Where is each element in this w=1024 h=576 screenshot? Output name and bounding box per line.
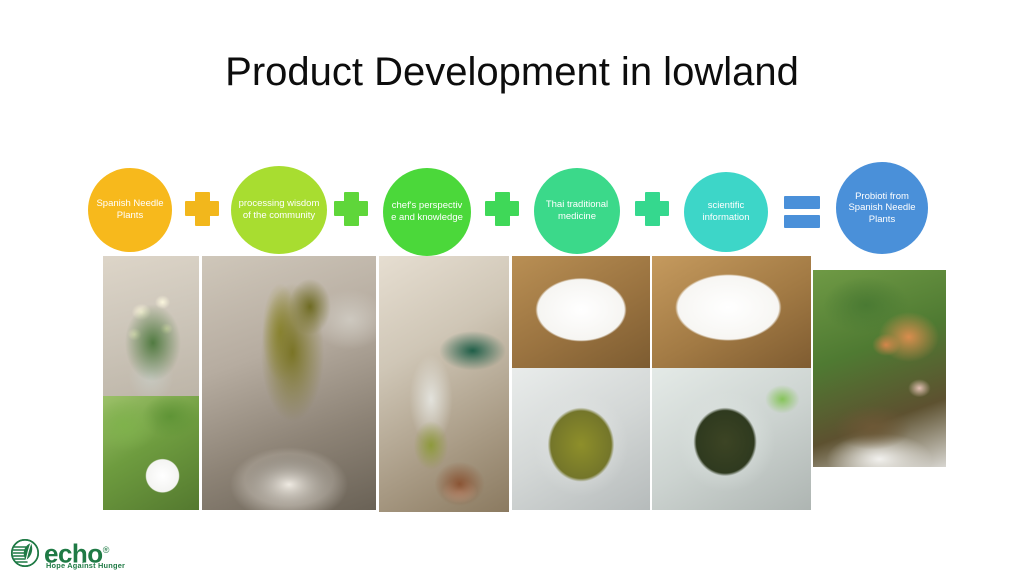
registered-mark: ® (103, 545, 109, 555)
echo-logo: echo® Hope Against Hunger (10, 536, 190, 572)
diagram-node-label: Spanish Needle Plants (95, 198, 165, 221)
diagram-node-chefs-perspective[interactable]: chef's perspectiv e and knowledge (383, 168, 471, 256)
diagram-node-thai-traditional-medicine[interactable]: Thai traditional medicine (534, 168, 620, 254)
diagram-node-scientific-information[interactable]: scientific information (684, 172, 768, 252)
equals-icon (784, 194, 820, 228)
photo-greens-and-peas (103, 396, 199, 510)
photo-green-liquid-bowl (512, 368, 650, 510)
photo-jar-and-garlic (379, 256, 509, 512)
photo-rice-with-herbs (652, 256, 811, 368)
diagram-node-label: chef's perspectiv e and knowledge (390, 200, 464, 223)
diagram-node-label: Thai traditional medicine (541, 199, 613, 222)
diagram-node-label: scientific information (691, 200, 761, 223)
photo-ground-herb-powder (512, 256, 650, 368)
process-diagram: Spanish Needle Plants processing wisdom … (0, 160, 1024, 260)
photo-collage (0, 0, 1024, 576)
photo-cooked-greens-bowl (652, 368, 811, 510)
echo-tagline: Hope Against Hunger (46, 561, 125, 570)
slide-canvas: Product Development in lowland (0, 0, 1024, 576)
echo-globe-leaf-logo-icon (10, 538, 40, 568)
diagram-node-label: processing wisdom of the community (238, 198, 320, 221)
diagram-node-processing-wisdom[interactable]: processing wisdom of the community (231, 166, 327, 254)
diagram-node-label: Probioti from Spanish Needle Plants (843, 191, 921, 226)
plus-icon (485, 192, 519, 226)
diagram-node-probiotic-result[interactable]: Probioti from Spanish Needle Plants (836, 162, 928, 254)
diagram-node-spanish-needle-plants[interactable]: Spanish Needle Plants (88, 168, 172, 252)
plus-icon (635, 192, 669, 226)
plus-icon (334, 192, 368, 226)
plus-icon (185, 192, 219, 226)
photo-flowers-in-jar (103, 256, 199, 396)
photo-fish-with-salad (813, 270, 946, 467)
photo-fermented-greens-pot (202, 256, 376, 510)
